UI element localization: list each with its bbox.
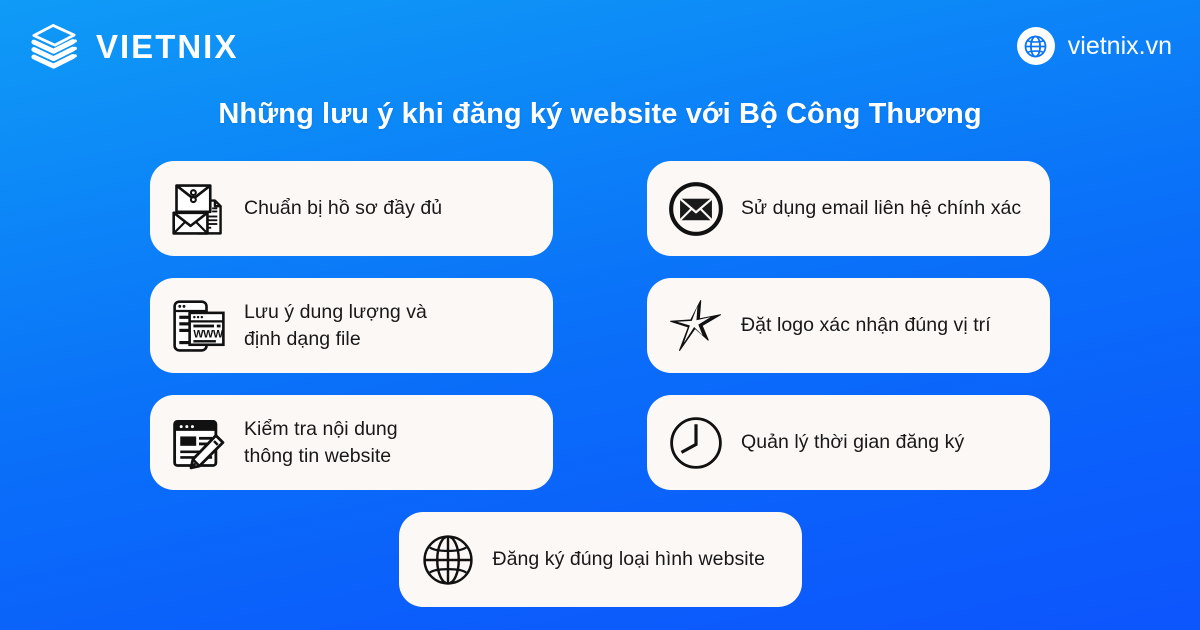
documents-envelope-icon — [168, 178, 230, 240]
brand-logo-group: VIETNIX — [26, 18, 238, 74]
tip-card-file-format[interactable]: WWW. Lưu ý dung lượng và định dạng file — [150, 278, 553, 373]
svg-text:WWW.: WWW. — [193, 328, 225, 340]
tips-row-4: Đăng ký đúng loại hình website — [150, 512, 1050, 607]
tip-card-email[interactable]: Sử dụng email liên hệ chính xác — [647, 161, 1050, 256]
tip-card-label: Lưu ý dung lượng và định dạng file — [244, 299, 427, 353]
tip-card-time-management[interactable]: Quản lý thời gian đăng ký — [647, 395, 1050, 490]
website-edit-pencil-icon — [168, 412, 230, 474]
tip-card-website-type[interactable]: Đăng ký đúng loại hình website — [399, 512, 802, 607]
tip-card-label: Đặt logo xác nhận đúng vị trí — [741, 312, 991, 339]
tip-card-check-content[interactable]: Kiểm tra nội dung thông tin website — [150, 395, 553, 490]
tip-card-documents[interactable]: Chuẩn bị hồ sơ đầy đủ — [150, 161, 553, 256]
star-icon — [665, 295, 727, 357]
tips-grid: Chuẩn bị hồ sơ đầy đủ Sử dụng email liên… — [150, 161, 1050, 607]
tip-card-label: Sử dụng email liên hệ chính xác — [741, 195, 1021, 222]
tip-card-label: Kiểm tra nội dung thông tin website — [244, 416, 398, 470]
tips-row-1: Chuẩn bị hồ sơ đầy đủ Sử dụng email liên… — [150, 161, 1050, 256]
email-circle-icon — [665, 178, 727, 240]
site-url-group[interactable]: vietnix.vn — [1017, 27, 1172, 65]
tip-card-label: Quản lý thời gian đăng ký — [741, 429, 964, 456]
www-browser-window-icon: WWW. — [168, 295, 230, 357]
brand-name: VIETNIX — [96, 30, 238, 63]
page-title: Những lưu ý khi đăng ký website với Bộ C… — [0, 96, 1200, 132]
stacked-layers-logo-icon — [26, 18, 82, 74]
tip-card-label: Chuẩn bị hồ sơ đầy đủ — [244, 195, 442, 222]
infographic-poster: VIETNIX vietnix.vn Những lưu ý khi đăng … — [0, 0, 1200, 630]
globe-wireframe-icon — [417, 529, 479, 591]
clock-icon — [665, 412, 727, 474]
globe-icon — [1017, 27, 1055, 65]
tips-row-2: WWW. Lưu ý dung lượng và định dạng file — [150, 278, 1050, 373]
tips-row-3: Kiểm tra nội dung thông tin website Quản… — [150, 395, 1050, 490]
site-url-text: vietnix.vn — [1068, 34, 1172, 59]
tip-card-logo-position[interactable]: Đặt logo xác nhận đúng vị trí — [647, 278, 1050, 373]
tip-card-label: Đăng ký đúng loại hình website — [493, 546, 766, 573]
